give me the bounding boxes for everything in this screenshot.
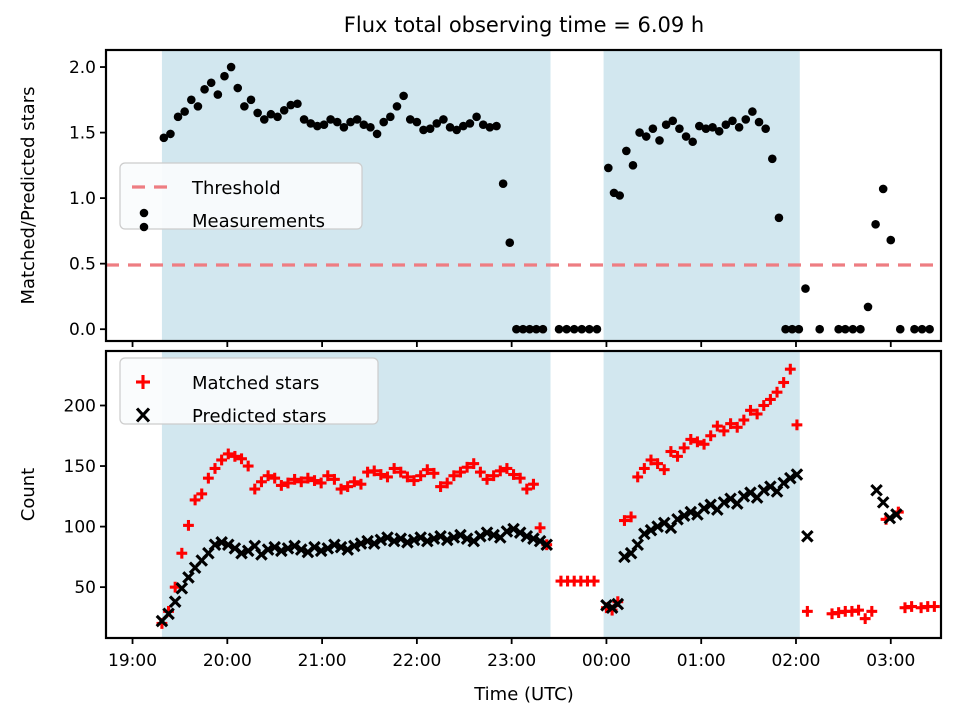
data-point xyxy=(649,124,658,133)
x-tick-label: 01:00 xyxy=(677,651,726,671)
y-tick-label: 1.5 xyxy=(69,124,96,144)
y-tick-label: 150 xyxy=(64,457,96,477)
x-tick-label: 21:00 xyxy=(298,651,347,671)
legend[interactable]: ThresholdMeasurements xyxy=(120,163,362,232)
data-point xyxy=(413,118,422,127)
data-point xyxy=(768,154,777,163)
data-point xyxy=(728,116,737,125)
x-tick-label: 23:00 xyxy=(487,651,536,671)
data-point xyxy=(668,116,677,125)
data-point xyxy=(466,119,475,128)
legend-label: Predicted stars xyxy=(192,406,326,427)
data-point xyxy=(886,236,895,245)
x-tick-label: 22:00 xyxy=(392,651,441,671)
data-point xyxy=(593,325,602,334)
data-point xyxy=(393,102,402,111)
data-point xyxy=(795,325,804,334)
data-point xyxy=(761,124,770,133)
data-point xyxy=(585,325,594,334)
data-point xyxy=(801,284,810,293)
data-point xyxy=(214,90,223,99)
y-tick-label: 200 xyxy=(64,396,96,416)
data-point xyxy=(688,137,697,146)
data-point xyxy=(775,213,784,222)
data-point xyxy=(604,164,613,173)
data-point xyxy=(849,325,858,334)
x-tick-label: 20:00 xyxy=(203,651,252,671)
y-tick-label: 0.0 xyxy=(69,320,96,340)
legend-label: Measurements xyxy=(192,211,325,232)
data-point xyxy=(715,127,724,136)
data-point xyxy=(472,113,481,122)
y-tick-label: 100 xyxy=(64,518,96,538)
data-point xyxy=(655,136,664,145)
data-point xyxy=(273,113,282,122)
data-point xyxy=(871,220,880,229)
data-point xyxy=(562,325,571,334)
data-point xyxy=(492,122,501,131)
data-point xyxy=(187,96,196,105)
data-point xyxy=(896,325,905,334)
data-point xyxy=(166,130,175,139)
data-point xyxy=(577,325,586,334)
legend-label: Matched stars xyxy=(192,373,319,394)
data-point xyxy=(629,161,638,170)
data-point xyxy=(910,325,919,334)
data-point xyxy=(539,325,548,334)
data-point xyxy=(918,325,927,334)
data-point xyxy=(748,107,757,116)
x-tick-label: 19:00 xyxy=(108,651,157,671)
x-axis-label: Time (UTC) xyxy=(473,684,574,705)
data-point xyxy=(253,109,262,118)
data-point xyxy=(642,132,651,141)
data-point xyxy=(570,325,579,334)
figure-title: Flux total observing time = 6.09 h xyxy=(344,13,704,37)
data-point xyxy=(194,102,203,111)
data-point xyxy=(925,325,934,334)
y-axis-label: Count xyxy=(18,468,39,521)
figure-canvas: Flux total observing time = 6.09 h 0.00.… xyxy=(0,0,960,720)
data-point xyxy=(227,63,236,72)
data-point xyxy=(386,113,395,122)
y-tick-label: 50 xyxy=(74,578,96,598)
x-tick-label: 02:00 xyxy=(771,651,820,671)
data-point xyxy=(675,124,684,133)
data-point xyxy=(841,325,850,334)
data-point xyxy=(439,115,448,124)
data-point xyxy=(207,78,216,87)
data-point xyxy=(399,92,408,101)
data-point xyxy=(233,84,242,93)
data-point xyxy=(741,115,750,124)
y-axis-label: Matched/Predicted stars xyxy=(18,87,39,305)
data-point xyxy=(366,123,375,132)
data-point xyxy=(373,130,382,139)
data-point xyxy=(815,325,824,334)
data-point xyxy=(755,118,764,127)
data-point xyxy=(555,325,564,334)
shaded-observing-span xyxy=(604,50,800,341)
x-tick-label: 03:00 xyxy=(866,651,915,671)
data-point xyxy=(247,96,256,105)
data-point xyxy=(293,99,302,108)
data-point xyxy=(200,85,209,94)
data-point xyxy=(499,179,508,188)
data-point xyxy=(735,123,744,132)
data-point xyxy=(505,238,514,247)
data-point xyxy=(622,147,631,156)
data-point xyxy=(879,185,888,194)
legend[interactable]: Matched starsPredicted stars xyxy=(120,358,378,427)
data-point xyxy=(864,303,873,312)
data-point xyxy=(856,325,865,334)
data-point xyxy=(220,72,229,81)
y-tick-label: 1.0 xyxy=(69,189,96,209)
data-point xyxy=(180,107,189,116)
y-tick-label: 2.0 xyxy=(69,58,96,78)
y-tick-label: 0.5 xyxy=(69,255,96,275)
x-tick-label: 00:00 xyxy=(582,651,631,671)
data-point xyxy=(615,191,624,200)
legend-label: Threshold xyxy=(191,178,281,199)
data-point xyxy=(240,102,249,111)
